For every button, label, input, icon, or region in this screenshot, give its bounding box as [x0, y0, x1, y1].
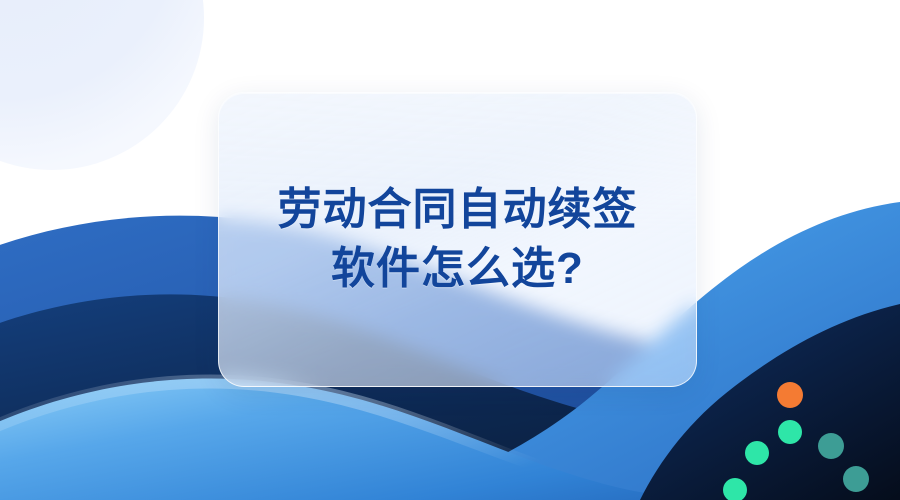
title-card: 劳动合同自动续签 软件怎么选? — [218, 92, 697, 387]
dot-green-3 — [723, 478, 747, 500]
title-line-1: 劳动合同自动续签 — [278, 181, 638, 239]
title-line-2: 软件怎么选? — [331, 240, 584, 298]
dot-orange — [777, 382, 803, 408]
dot-teal-1 — [818, 433, 844, 459]
poster-canvas: 劳动合同自动续签 软件怎么选? — [0, 0, 900, 500]
dot-green-1 — [778, 420, 802, 444]
dot-green-2 — [745, 441, 769, 465]
dot-teal-2 — [843, 466, 869, 492]
